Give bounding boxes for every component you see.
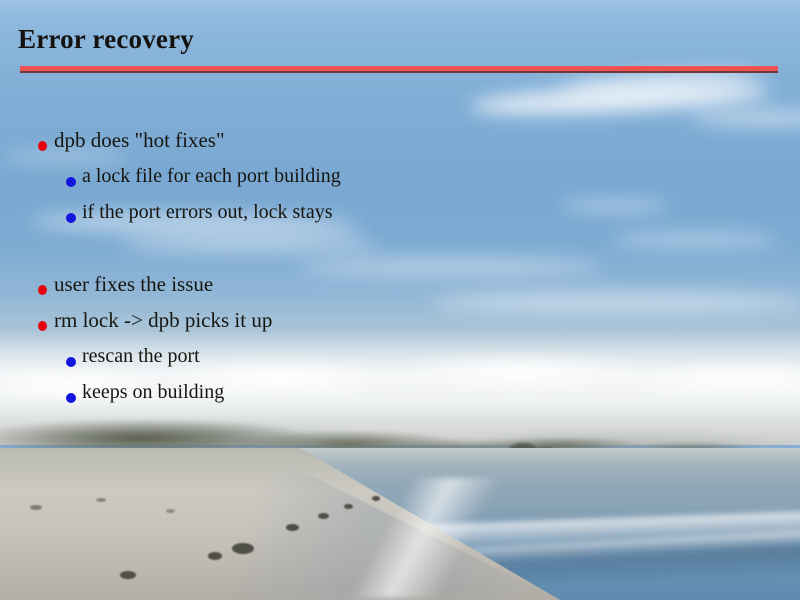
bullet-item-level2: rescan the port <box>0 344 800 380</box>
bullet-item-level2: a lock file for each port building <box>0 164 800 200</box>
bullet-spacer <box>0 236 800 272</box>
presentation-slide: Error recovery dpb does "hot fixes"a loc… <box>0 0 800 600</box>
title-underline-rule <box>20 66 778 73</box>
slide-title: Error recovery <box>18 24 194 55</box>
bullet-text: user fixes the issue <box>54 272 213 297</box>
bullet-text: rescan the port <box>82 345 200 368</box>
bullet-text: dpb does "hot fixes" <box>54 128 225 153</box>
bullet-item-level1: dpb does "hot fixes" <box>0 128 800 164</box>
bullet-dot-blue-icon <box>66 213 76 223</box>
slide-content: Error recovery dpb does "hot fixes"a loc… <box>0 0 800 600</box>
bullet-dot-blue-icon <box>66 177 76 187</box>
bullet-dot-red-icon <box>38 285 47 295</box>
bullet-dot-red-icon <box>38 141 47 151</box>
bullet-text: if the port errors out, lock stays <box>82 201 333 224</box>
bullet-dot-blue-icon <box>66 357 76 367</box>
bullet-list: dpb does "hot fixes"a lock file for each… <box>0 128 800 416</box>
bullet-item-level2: if the port errors out, lock stays <box>0 200 800 236</box>
bullet-dot-red-icon <box>38 321 47 331</box>
bullet-dot-blue-icon <box>66 393 76 403</box>
bullet-text: rm lock -> dpb picks it up <box>54 308 272 333</box>
bullet-item-level2: keeps on building <box>0 380 800 416</box>
bullet-text: keeps on building <box>82 381 224 404</box>
bullet-text: a lock file for each port building <box>82 165 341 188</box>
bullet-item-level1: rm lock -> dpb picks it up <box>0 308 800 344</box>
bullet-item-level1: user fixes the issue <box>0 272 800 308</box>
